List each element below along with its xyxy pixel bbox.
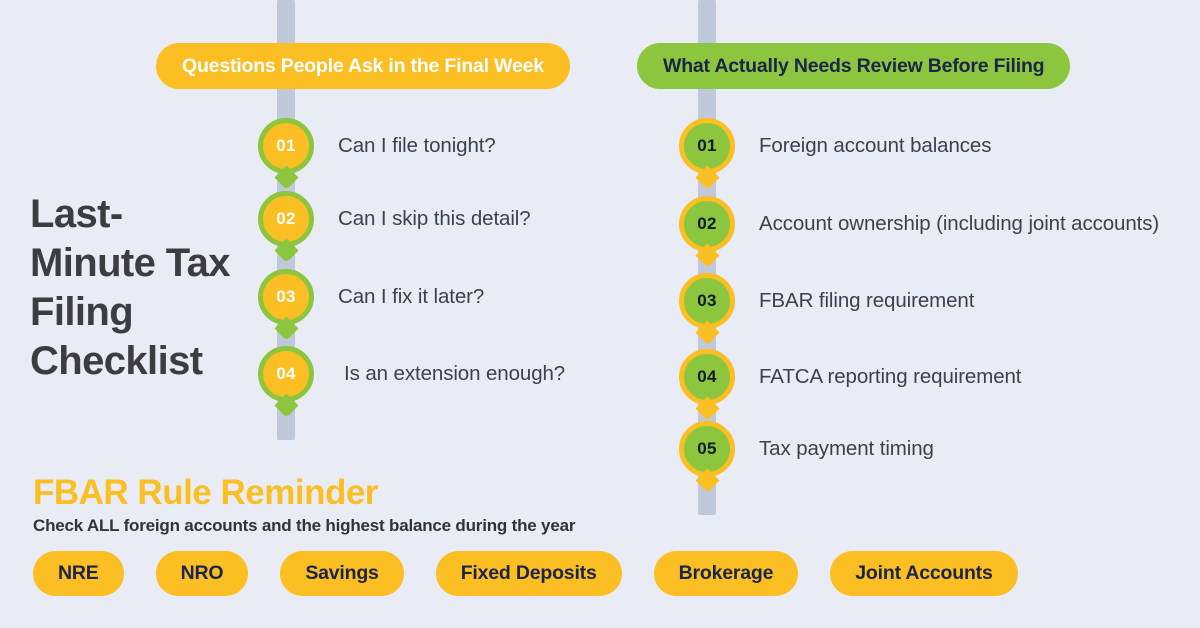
list-item[interactable]: 02 Account ownership (including joint ac… (679, 196, 1159, 252)
tag-joint-accounts[interactable]: Joint Accounts (830, 551, 1017, 596)
list-item[interactable]: 05 Tax payment timing (679, 421, 934, 477)
list-item[interactable]: 02 Can I skip this detail? (258, 191, 531, 247)
step-number: 04 (697, 367, 717, 387)
step-badge-04-left: 04 (258, 346, 314, 402)
tag-nre[interactable]: NRE (33, 551, 124, 596)
list-item-label: Foreign account balances (759, 134, 991, 158)
step-badge-05-right: 05 (679, 421, 735, 477)
list-item[interactable]: 04 Is an extension enough? (258, 346, 565, 402)
reminder-subtitle: Check ALL foreign accounts and the highe… (33, 516, 575, 536)
page-title: Last-Minute Tax Filing Checklist (30, 190, 245, 386)
list-item[interactable]: 04 FATCA reporting requirement (679, 349, 1021, 405)
step-number: 05 (697, 439, 717, 459)
list-item-label: Can I fix it later? (338, 285, 484, 309)
step-number: 03 (276, 287, 296, 307)
list-item[interactable]: 01 Can I file tonight? (258, 118, 496, 174)
reminder-title: FBAR Rule Reminder (33, 473, 378, 513)
list-item-label: Account ownership (including joint accou… (759, 212, 1159, 236)
list-item[interactable]: 03 Can I fix it later? (258, 269, 484, 325)
list-item-label: Can I skip this detail? (338, 207, 531, 231)
step-badge-02-right: 02 (679, 196, 735, 252)
list-item-label: Is an extension enough? (344, 362, 565, 386)
list-item-label: FBAR filing requirement (759, 289, 974, 313)
column-heading-review: What Actually Needs Review Before Filing (637, 43, 1070, 89)
step-number: 01 (276, 136, 296, 156)
step-number: 03 (697, 291, 717, 311)
step-badge-02-left: 02 (258, 191, 314, 247)
step-badge-01-left: 01 (258, 118, 314, 174)
step-badge-04-right: 04 (679, 349, 735, 405)
column-heading-questions: Questions People Ask in the Final Week (156, 43, 570, 89)
list-item-label: Tax payment timing (759, 437, 934, 461)
list-item[interactable]: 01 Foreign account balances (679, 118, 991, 174)
list-item-label: Can I file tonight? (338, 134, 496, 158)
list-item-label: FATCA reporting requirement (759, 365, 1021, 389)
step-badge-03-left: 03 (258, 269, 314, 325)
step-number: 01 (697, 136, 717, 156)
step-number: 02 (697, 214, 717, 234)
list-item[interactable]: 03 FBAR filing requirement (679, 273, 974, 329)
tag-fixed-deposits[interactable]: Fixed Deposits (436, 551, 622, 596)
step-badge-01-right: 01 (679, 118, 735, 174)
step-number: 02 (276, 209, 296, 229)
tag-brokerage[interactable]: Brokerage (654, 551, 799, 596)
account-type-tag-row: NRE NRO Savings Fixed Deposits Brokerage… (33, 551, 1018, 596)
tag-savings[interactable]: Savings (280, 551, 403, 596)
tag-nro[interactable]: NRO (156, 551, 249, 596)
step-number: 04 (276, 364, 296, 384)
step-badge-03-right: 03 (679, 273, 735, 329)
